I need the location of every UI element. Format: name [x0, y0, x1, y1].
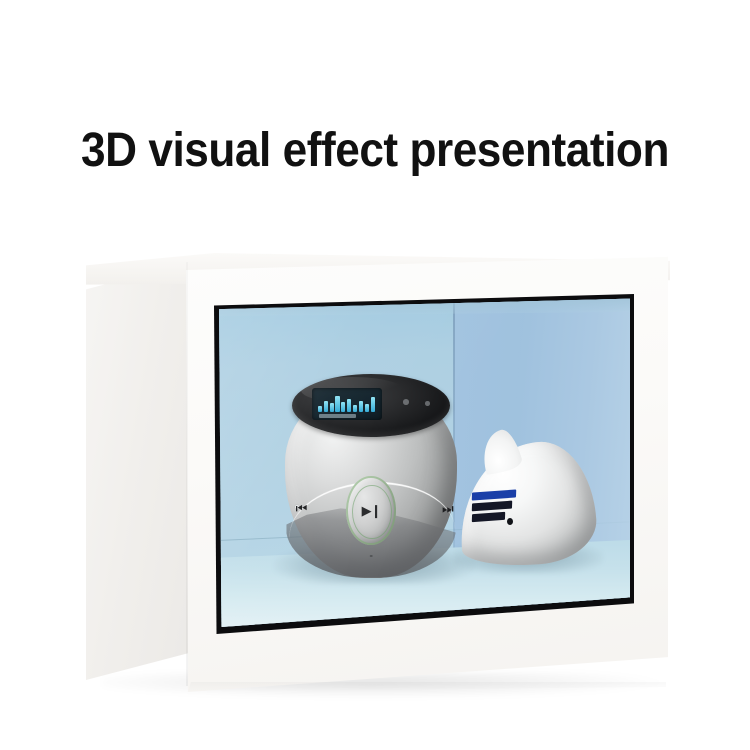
- cabinet-front-bottom-edge: [188, 682, 666, 692]
- previous-track-icon[interactable]: ⏮: [296, 502, 306, 515]
- teardrop-badge-bars: [472, 491, 518, 528]
- teardrop-badge-bar: [471, 490, 516, 501]
- cabinet-left-side-panel: [86, 260, 198, 680]
- equalizer-bar: [359, 401, 363, 412]
- music-player-sensor-icon: [403, 399, 409, 405]
- spherical-music-player[interactable]: ⏮ ▶❙ ⏭: [285, 374, 458, 578]
- screenshot-stage: 3D visual effect presentation: [0, 0, 750, 750]
- equalizer-visualization: [318, 394, 377, 412]
- equalizer-bar: [341, 402, 345, 412]
- equalizer-bar: [353, 405, 357, 412]
- teardrop-speaker-device[interactable]: [459, 443, 595, 565]
- teardrop-badge-bar: [471, 512, 505, 522]
- teardrop-badge-dot-icon: [507, 518, 513, 525]
- next-track-icon[interactable]: ⏭: [442, 502, 452, 515]
- music-player-led-icon: [425, 401, 430, 405]
- teardrop-badge-bar: [471, 501, 511, 512]
- equalizer-bar: [318, 406, 322, 412]
- music-player-top-panel: [292, 374, 451, 437]
- equalizer-bar: [365, 404, 369, 412]
- transparent-display-screen[interactable]: ⏮ ▶❙ ⏭: [219, 298, 630, 627]
- equalizer-bar: [324, 401, 328, 412]
- play-pause-icon: ▶❙: [362, 504, 381, 517]
- mini-display-label-bar: [319, 414, 355, 418]
- music-player-indicator-dot-icon: [370, 555, 373, 558]
- transparent-lcd-display-cabinet: ⏮ ▶❙ ⏭: [82, 236, 668, 706]
- equalizer-bar: [347, 399, 351, 412]
- cabinet-front-left-edge: [186, 262, 188, 686]
- music-player-control-panel[interactable]: ⏮ ▶❙ ⏭: [299, 482, 444, 551]
- equalizer-bar: [335, 396, 339, 412]
- music-player-mini-display: [312, 388, 382, 421]
- equalizer-bar: [330, 403, 334, 411]
- play-pause-button[interactable]: ▶❙: [346, 476, 395, 545]
- equalizer-bar: [371, 397, 375, 412]
- page-title: 3D visual effect presentation: [30, 126, 720, 176]
